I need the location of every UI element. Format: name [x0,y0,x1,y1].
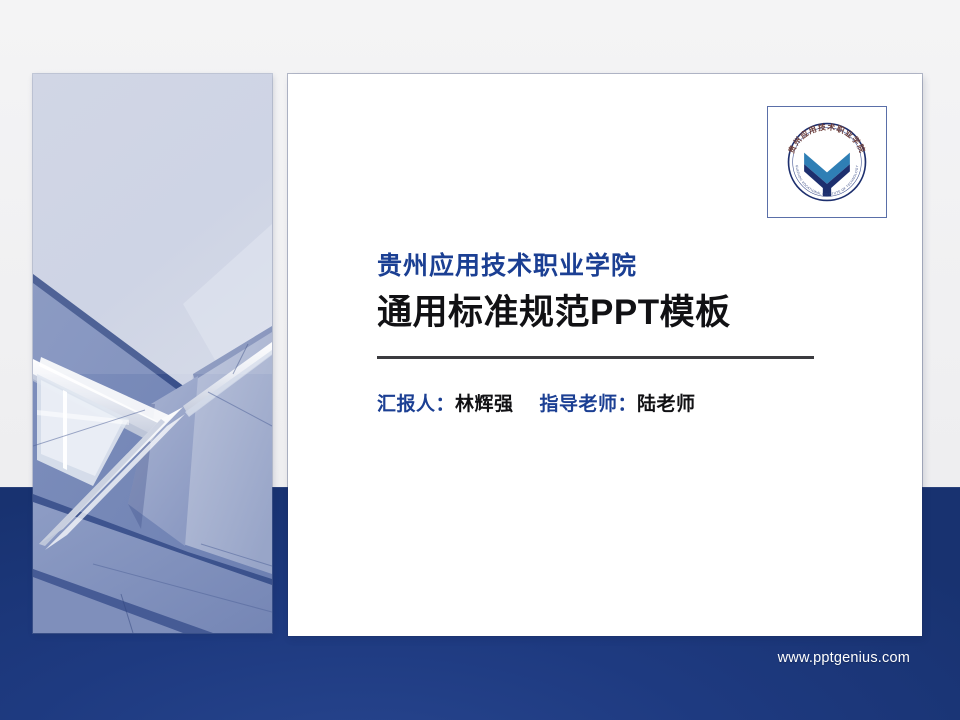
site-url-text: www.pptgenius.com [778,650,910,666]
college-logo-box: 贵州应用技术职业学院 GUIZHOU VOCATIONAL INSTITUTE … [768,107,886,217]
architecture-ceiling-photo [33,74,272,633]
advisor-label: 指导老师： [540,394,638,415]
advisor-name: 陆老师 [637,394,696,415]
college-emblem-icon: 贵州应用技术职业学院 GUIZHOU VOCATIONAL INSTITUTE … [775,110,879,214]
reporter-name: 林辉强 [455,394,514,415]
architecture-photo-panel [33,74,272,633]
title-text-block: 贵州应用技术职业学院 通用标准规范PPT模板 汇报人：林辉强指导老师：陆老师 [377,252,847,416]
reporter-label: 汇报人： [377,394,455,415]
presenter-row: 汇报人：林辉强指导老师：陆老师 [377,389,847,416]
title-divider [377,356,814,359]
svg-text:贵州应用技术职业学院: 贵州应用技术职业学院 [786,122,868,155]
slide-white-card: 贵州应用技术职业学院 GUIZHOU VOCATIONAL INSTITUTE … [288,74,922,636]
page-title: 通用标准规范PPT模板 [377,292,847,334]
school-name: 贵州应用技术职业学院 [377,252,847,282]
presentation-title-slide: 贵州应用技术职业学院 GUIZHOU VOCATIONAL INSTITUTE … [0,0,960,720]
